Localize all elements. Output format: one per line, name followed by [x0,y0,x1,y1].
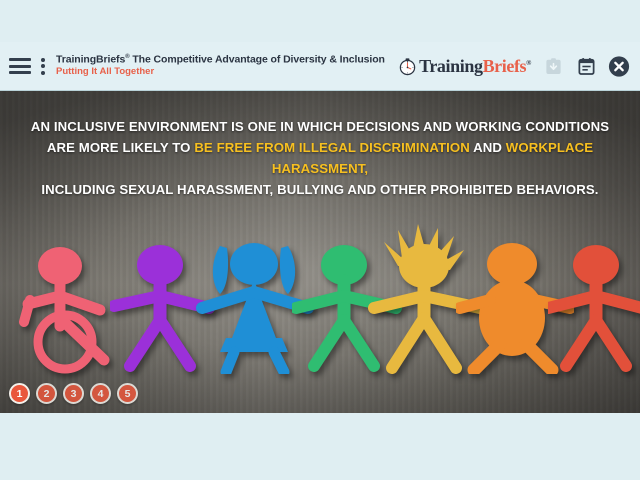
brand-word-briefs: Briefs [483,56,527,76]
header-actions: TrainingBriefs® [398,55,630,77]
caption-line-1: AN INCLUSIVE ENVIRONMENT IS ONE IN WHICH… [6,117,634,138]
download-icon[interactable] [542,55,564,77]
course-title-rest: The Competitive Advantage of Diversity &… [130,54,385,66]
course-title: TrainingBriefs® The Competitive Advantag… [56,54,385,66]
kebab-dot [41,71,45,75]
trainingbriefs-logo: TrainingBriefs® [398,56,531,77]
caption-line-2-mid: AND [470,140,506,155]
hamburger-line [9,71,31,74]
hamburger-line [9,58,31,61]
course-subtitle: Putting It All Together [56,67,385,78]
pagination-item-3[interactable]: 3 [63,383,84,404]
figure-red [548,234,640,374]
brand-registered-mark: ® [526,59,531,67]
slide-stage: AN INCLUSIVE ENVIRONMENT IS ONE IN WHICH… [0,91,640,413]
course-header-bar: TrainingBriefs® The Competitive Advantag… [0,42,640,91]
brand-wordmark: TrainingBriefs® [419,56,531,77]
notes-icon[interactable] [575,55,597,77]
pagination-item-1[interactable]: 1 [9,383,30,404]
caption-line-3: INCLUDING SEXUAL HARASSMENT, BULLYING AN… [6,180,634,201]
slide-pagination: 1 2 3 4 5 [9,383,138,404]
kebab-dot [41,58,45,62]
hamburger-menu-icon[interactable] [9,58,31,74]
slide-caption: AN INCLUSIVE ENVIRONMENT IS ONE IN WHICH… [0,117,640,200]
course-title-block: TrainingBriefs® The Competitive Advantag… [56,54,385,78]
notes-glyph [577,57,596,76]
hamburger-line [9,65,31,68]
brand-word-training: Training [419,56,482,76]
pagination-item-5[interactable]: 5 [117,383,138,404]
close-icon[interactable] [608,55,630,77]
caption-line-2: ARE MORE LIKELY TO BE FREE FROM ILLEGAL … [6,138,634,180]
application-window: TrainingBriefs® The Competitive Advantag… [0,0,640,480]
pagination-item-2[interactable]: 2 [36,383,57,404]
stopwatch-icon [398,57,417,76]
caption-line-2-pre: ARE MORE LIKELY TO [47,140,194,155]
close-glyph [608,55,630,78]
more-options-icon[interactable] [40,58,45,75]
caption-highlight-discrimination: BE FREE FROM ILLEGAL DISCRIMINATION [194,140,470,155]
kebab-dot [41,64,45,68]
download-glyph [544,57,563,76]
figure-wheelchair-pink [8,234,126,374]
paper-people-illustration [0,209,640,374]
pagination-item-4[interactable]: 4 [90,383,111,404]
course-title-brand: TrainingBriefs [56,54,125,66]
